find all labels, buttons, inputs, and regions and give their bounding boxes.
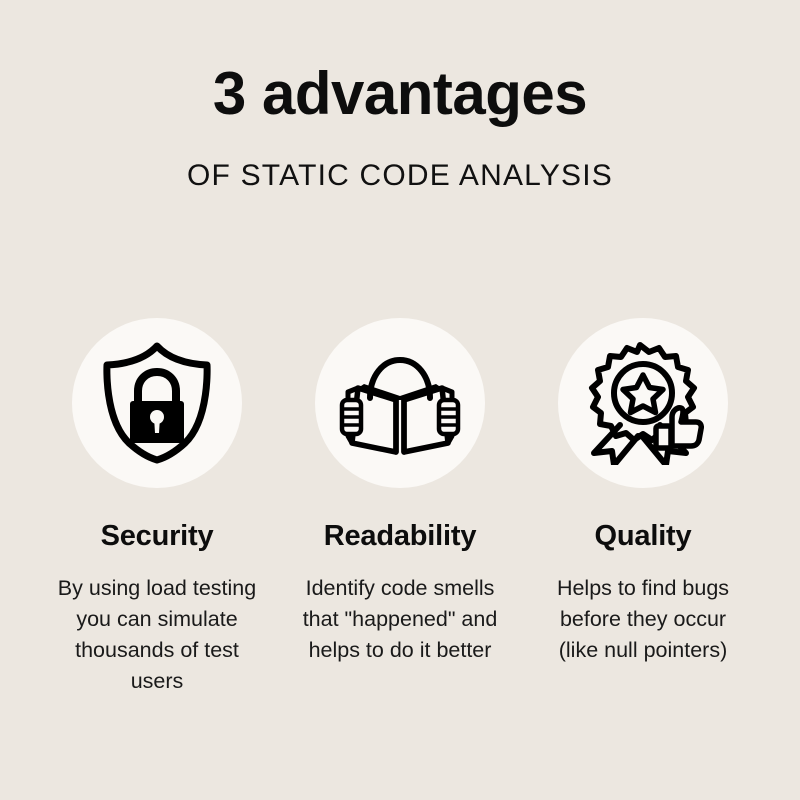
page-title: 3 advantages (0, 62, 800, 125)
advantage-title-readability: Readability (324, 520, 477, 553)
shield-lock-icon (98, 341, 216, 465)
person-reading-book-icon (338, 344, 462, 462)
infographic-poster: 3 advantages OF STATIC CODE ANALYSIS Sec… (0, 0, 800, 800)
page-subtitle: OF STATIC CODE ANALYSIS (0, 159, 800, 193)
advantage-body-security: By using load testing you can simulate t… (57, 573, 257, 697)
security-icon-badge (72, 318, 242, 488)
award-badge-thumbs-up-icon (582, 341, 704, 465)
advantage-title-security: Security (101, 520, 214, 553)
advantage-title-quality: Quality (595, 520, 692, 553)
poster-header: 3 advantages OF STATIC CODE ANALYSIS (0, 0, 800, 193)
advantage-card-readability: Readability Identify code smells that "h… (279, 318, 522, 666)
advantage-body-readability: Identify code smells that "happened" and… (303, 573, 498, 666)
advantage-card-quality: Quality Helps to find bugs before they o… (522, 318, 765, 666)
advantages-list: Security By using load testing you can s… (0, 318, 800, 697)
advantage-body-quality: Helps to find bugs before they occur (li… (551, 573, 736, 666)
readability-icon-badge (315, 318, 485, 488)
quality-icon-badge (558, 318, 728, 488)
advantage-card-security: Security By using load testing you can s… (36, 318, 279, 697)
